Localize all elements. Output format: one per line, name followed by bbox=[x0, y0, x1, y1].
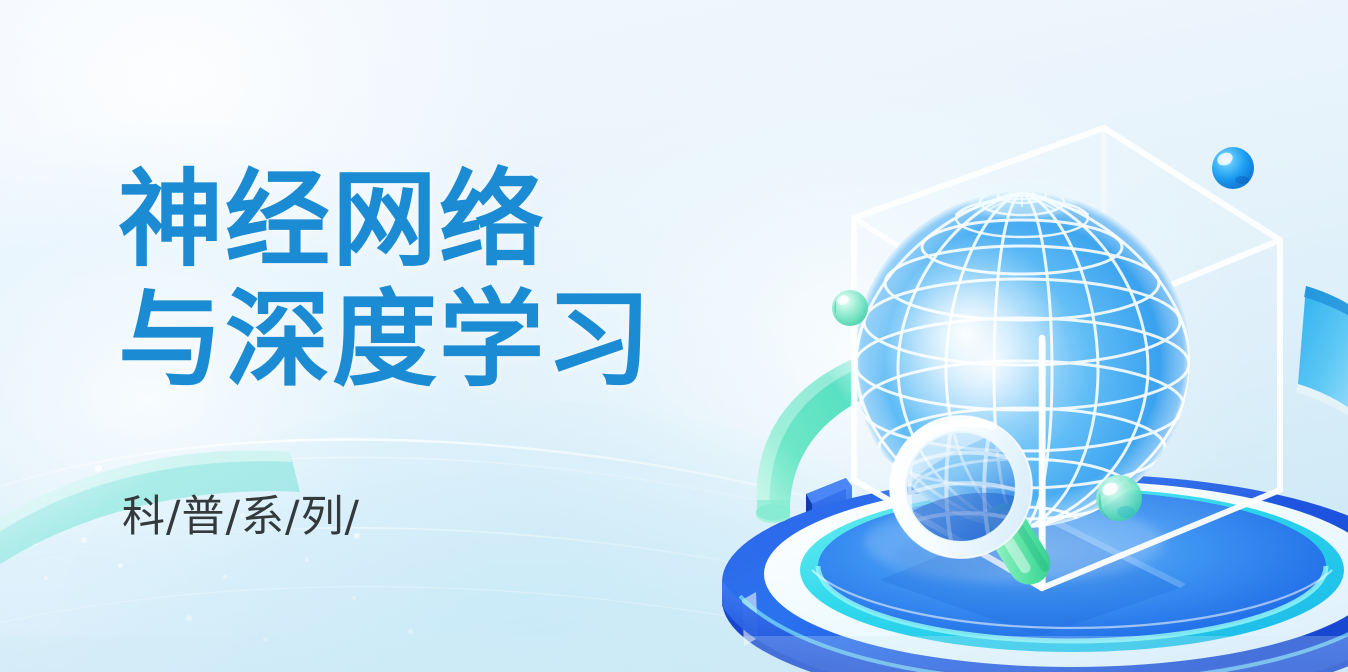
platform-front-lip bbox=[722, 580, 1348, 672]
node-sphere-blue bbox=[1212, 147, 1254, 189]
banner-root: 神经网络 与深度学习 科/普/系/列/ bbox=[0, 0, 1348, 672]
magnifier bbox=[863, 389, 1059, 592]
particle bbox=[118, 563, 123, 568]
magnifier-handle bbox=[976, 496, 1058, 593]
particle bbox=[223, 575, 227, 579]
glass-cube-front-edges bbox=[854, 218, 1280, 588]
particle bbox=[408, 629, 413, 634]
ribbon-blue-right bbox=[1296, 286, 1348, 424]
headline-block: 神经网络 与深度学习 bbox=[118, 160, 653, 400]
node-sphere-green-left bbox=[832, 290, 868, 326]
page-subtitle: 科/普/系/列/ bbox=[122, 489, 360, 545]
particle bbox=[81, 537, 87, 543]
particle bbox=[31, 538, 39, 546]
page-title-line-2: 与深度学习 bbox=[118, 280, 653, 400]
particle bbox=[42, 497, 47, 502]
glass-cube bbox=[854, 128, 1280, 588]
particle bbox=[305, 558, 309, 562]
particle bbox=[352, 596, 356, 600]
ribbon-teal bbox=[756, 354, 878, 523]
page-title-line-1: 神经网络 bbox=[118, 160, 653, 280]
particle bbox=[186, 615, 192, 621]
node-sphere-green-front bbox=[1096, 475, 1142, 521]
particle bbox=[44, 576, 48, 580]
particle bbox=[95, 465, 102, 472]
wireframe-globe bbox=[854, 182, 1190, 541]
platform-disc bbox=[722, 474, 1348, 672]
block-blue bbox=[806, 478, 852, 588]
particle bbox=[263, 637, 268, 642]
